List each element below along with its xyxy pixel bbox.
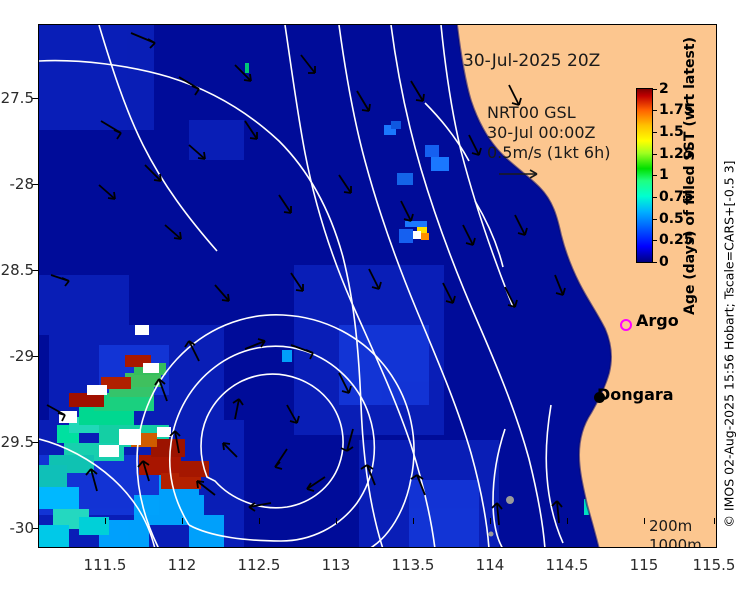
x-tick bbox=[182, 518, 183, 524]
observation-dot bbox=[506, 496, 514, 504]
colorbar-tick bbox=[653, 240, 657, 241]
product-name: NRT00 GSL bbox=[487, 103, 610, 123]
x-tick bbox=[259, 518, 260, 524]
colorbar-tick bbox=[653, 219, 657, 220]
y-tick-label: -29.5 bbox=[0, 433, 34, 451]
y-tick-label: -28.5 bbox=[0, 261, 34, 279]
velocity-reference-arrow-icon bbox=[497, 166, 557, 182]
x-tick bbox=[714, 518, 715, 524]
y-tick-label: -27.5 bbox=[0, 89, 34, 107]
colorbar-tick bbox=[653, 197, 657, 198]
colorbar-label: 0.5 bbox=[659, 211, 684, 227]
colorbar-tick bbox=[653, 154, 657, 155]
x-tick-label: 111.5 bbox=[84, 556, 127, 574]
argo-label: Argo bbox=[636, 311, 679, 330]
x-tick bbox=[490, 518, 491, 524]
colorbar-tick bbox=[653, 262, 657, 263]
x-tick-label: 112 bbox=[168, 556, 197, 574]
colorbar-title: Age (days) of filled SST (wrt latest) bbox=[682, 37, 698, 315]
colorbar-tick bbox=[653, 175, 657, 176]
x-tick bbox=[105, 518, 106, 524]
colorbar-label: 0 bbox=[659, 254, 669, 270]
colorbar-label: 1.5 bbox=[659, 124, 684, 140]
velocity-scale-label: 0.5m/s (1kt 6h) bbox=[487, 143, 610, 163]
y-tick-label: -28 bbox=[10, 175, 35, 193]
x-tick-label: 114.5 bbox=[546, 556, 589, 574]
depth-200m-label: 200m bbox=[649, 517, 717, 536]
product-time: 30-Jul 00:00Z bbox=[487, 123, 610, 143]
x-tick bbox=[336, 518, 337, 524]
date-stamp: 30-Jul-2025 20Z bbox=[463, 51, 600, 71]
credit-text: © IMOS 02-Aug-2025 15:56 Hobart; Tscale=… bbox=[722, 160, 737, 527]
colorbar-tick bbox=[653, 89, 657, 90]
x-tick-label: 114 bbox=[476, 556, 505, 574]
dongara-label: Dongara bbox=[597, 385, 674, 404]
sst-age-map-figure: 30-Jul-2025 20Z NRT00 GSL 30-Jul 00:00Z … bbox=[0, 0, 740, 592]
argo-marker[interactable] bbox=[620, 319, 632, 331]
bathymetry-legend: 200m 1000m bbox=[649, 517, 717, 548]
x-tick bbox=[567, 518, 568, 524]
x-tick-label: 115.5 bbox=[693, 556, 736, 574]
colorbar-label: 1 bbox=[659, 167, 669, 183]
x-tick-label: 112.5 bbox=[238, 556, 281, 574]
y-tick-label: -30 bbox=[10, 519, 35, 537]
colorbar-tick bbox=[653, 132, 657, 133]
observation-dot bbox=[489, 532, 494, 537]
x-tick-label: 115 bbox=[630, 556, 659, 574]
map-plot-area[interactable]: 30-Jul-2025 20Z NRT00 GSL 30-Jul 00:00Z … bbox=[38, 24, 717, 548]
colorbar-tick bbox=[653, 110, 657, 111]
depth-1000m-label: 1000m bbox=[649, 536, 717, 548]
colorbar[interactable] bbox=[636, 88, 653, 263]
x-tick bbox=[413, 518, 414, 524]
x-tick-label: 113.5 bbox=[392, 556, 435, 574]
y-tick-label: -29 bbox=[10, 347, 35, 365]
x-tick-label: 113 bbox=[322, 556, 351, 574]
sst-age-raster bbox=[39, 25, 717, 548]
product-info-block: NRT00 GSL 30-Jul 00:00Z 0.5m/s (1kt 6h) bbox=[487, 103, 610, 182]
x-tick bbox=[644, 518, 645, 524]
colorbar-label: 2 bbox=[659, 81, 669, 97]
